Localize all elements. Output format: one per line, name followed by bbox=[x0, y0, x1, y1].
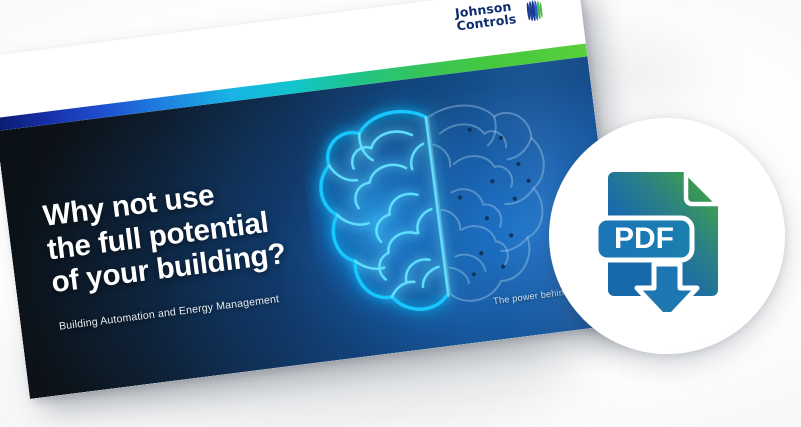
brand-logo: Johnson Controls bbox=[454, 0, 548, 34]
pdf-download-icon: PDF bbox=[592, 160, 742, 312]
brochure-paper: Johnson Controls bbox=[0, 0, 621, 399]
pdf-label-badge: PDF bbox=[596, 218, 692, 260]
pdf-download-badge[interactable]: PDF bbox=[549, 118, 785, 354]
promo-stage: Johnson Controls bbox=[0, 0, 801, 427]
johnson-controls-logo-icon bbox=[520, 0, 549, 25]
brand-logo-text: Johnson Controls bbox=[454, 0, 517, 33]
pdf-label-text: PDF bbox=[614, 222, 674, 255]
brochure-cover[interactable]: Johnson Controls bbox=[0, 0, 621, 399]
